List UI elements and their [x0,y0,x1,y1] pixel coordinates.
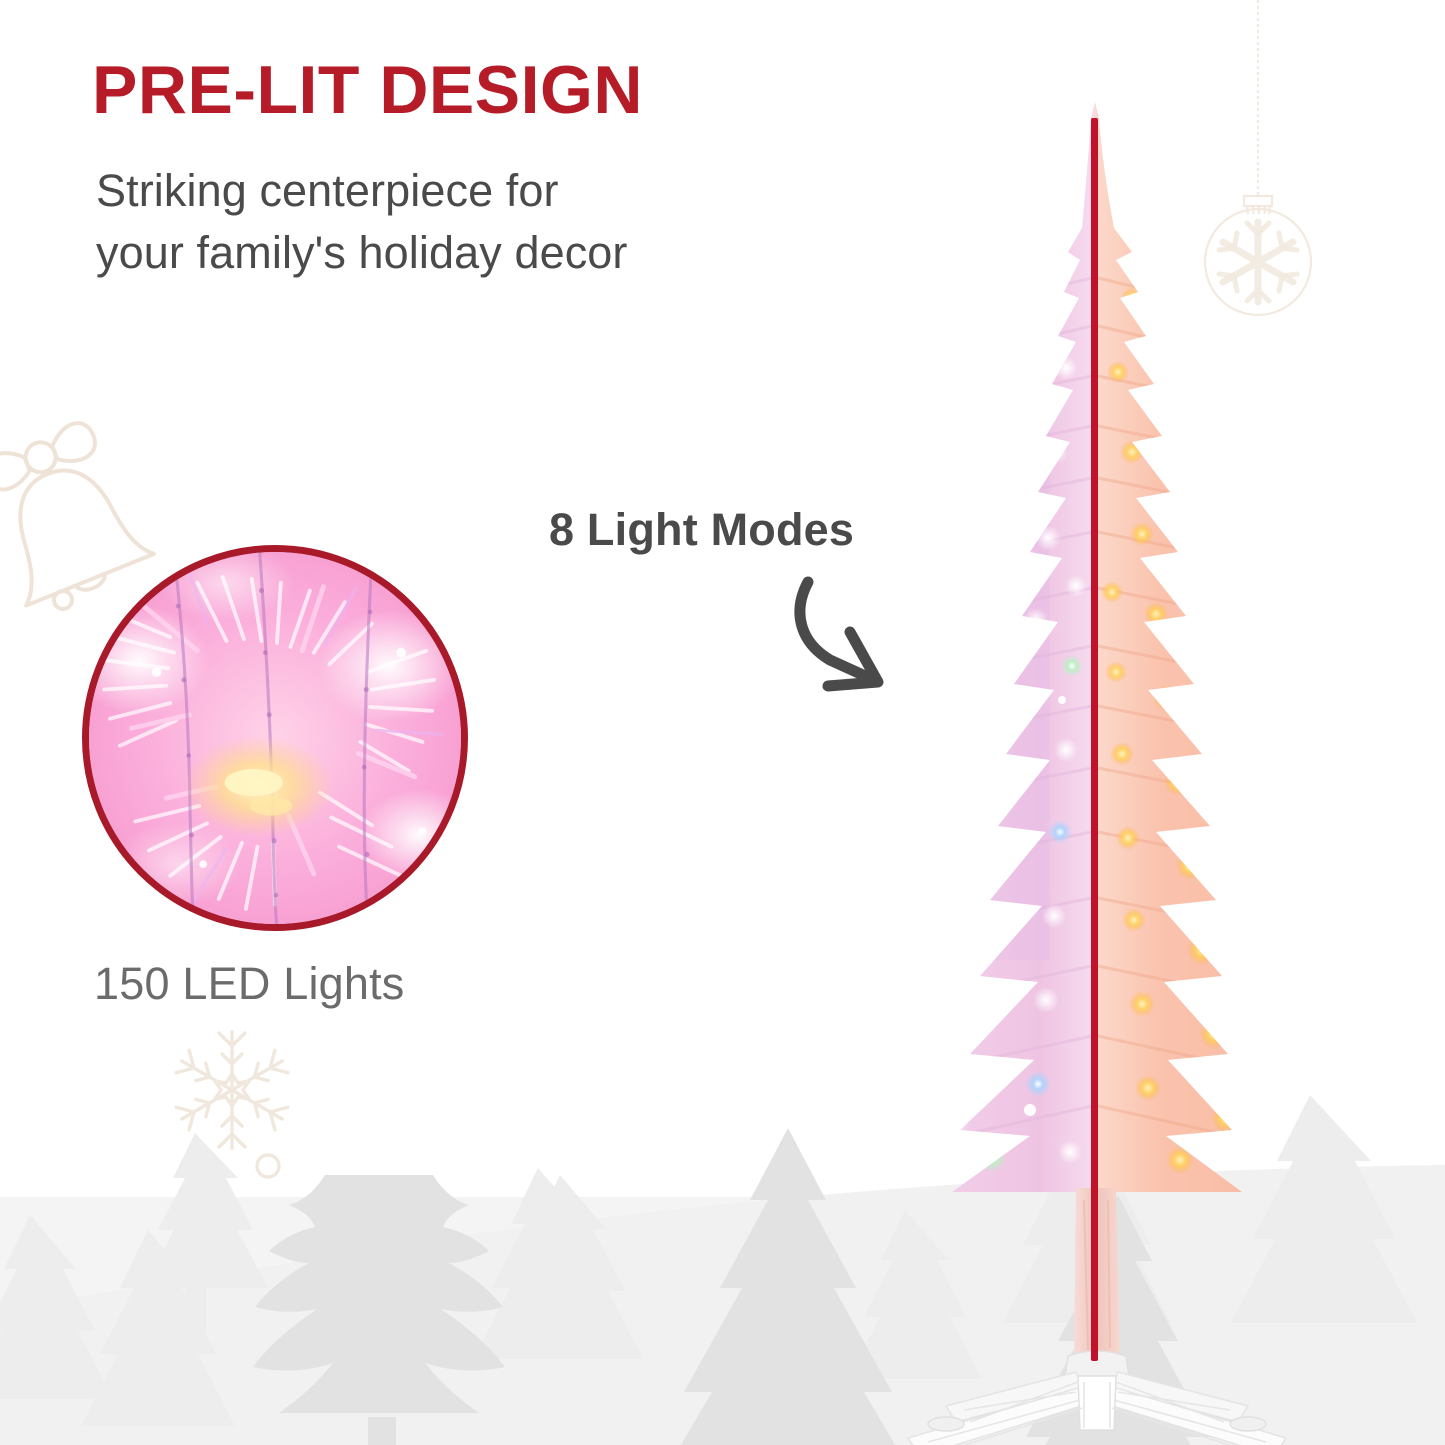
light-modes-label: 8 Light Modes [549,504,854,556]
subtitle-line-2: your family's holiday decor [96,222,628,284]
lighting-mode-divider [1091,118,1098,1361]
tree-right-half-warm [1095,100,1310,1445]
detail-zoom-circle [82,545,468,931]
led-count-caption: 150 LED Lights [94,958,405,1010]
page-title: PRE-LIT DESIGN [92,55,643,126]
product-feature-image: PRE-LIT DESIGN Striking centerpiece for … [0,0,1445,1445]
subtitle-line-1: Striking centerpiece for [96,165,559,216]
snowflake-watermark [175,1032,288,1177]
tree-stand [886,1351,1308,1445]
tree-left-half-cool [880,100,1095,1445]
branch-closeup-art [82,545,468,931]
subtitle: Striking centerpiece for your family's h… [96,160,628,284]
